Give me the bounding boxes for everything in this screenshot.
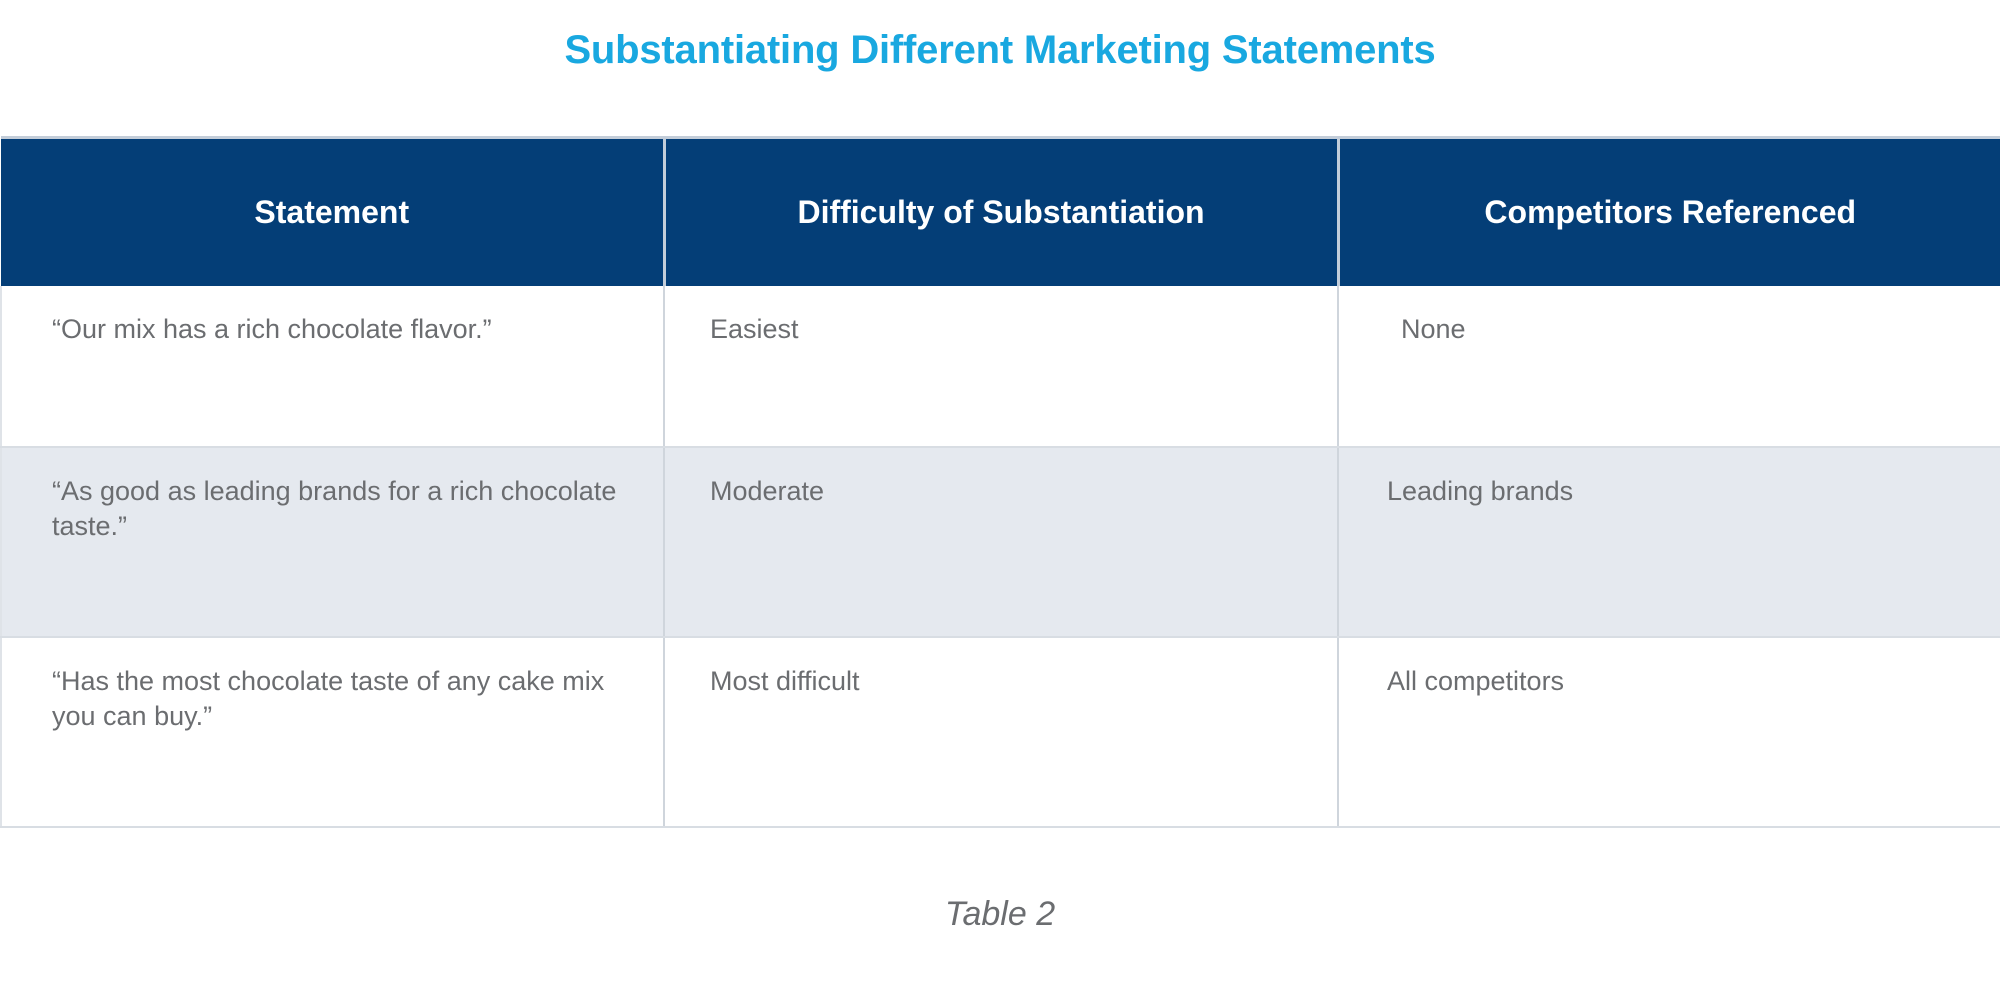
cell-statement: “Has the most chocolate taste of any cak… [1,637,664,827]
cell-competitors: All competitors [1338,637,2000,827]
column-header-statement: Statement [1,138,664,286]
cell-statement: “Our mix has a rich chocolate flavor.” [1,286,664,447]
column-header-difficulty: Difficulty of Substantiation [664,138,1338,286]
table-container: Statement Difficulty of Substantiation C… [0,136,2000,828]
table-body: “Our mix has a rich chocolate flavor.” E… [1,286,2000,827]
marketing-statements-table: Statement Difficulty of Substantiation C… [0,136,2000,828]
table-row: “As good as leading brands for a rich ch… [1,447,2000,637]
table-row: “Our mix has a rich chocolate flavor.” E… [1,286,2000,447]
cell-difficulty: Most difficult [664,637,1338,827]
cell-difficulty: Moderate [664,447,1338,637]
table-header: Statement Difficulty of Substantiation C… [1,138,2000,286]
cell-competitors: None [1338,286,2000,447]
figure-title: Substantiating Different Marketing State… [0,28,2000,73]
column-header-competitors: Competitors Referenced [1338,138,2000,286]
cell-difficulty: Easiest [664,286,1338,447]
table-row: “Has the most chocolate taste of any cak… [1,637,2000,827]
table-caption: Table 2 [0,895,2000,934]
header-row: Statement Difficulty of Substantiation C… [1,138,2000,286]
cell-statement: “As good as leading brands for a rich ch… [1,447,664,637]
table-figure: Substantiating Different Marketing State… [0,0,2000,993]
cell-competitors: Leading brands [1338,447,2000,637]
